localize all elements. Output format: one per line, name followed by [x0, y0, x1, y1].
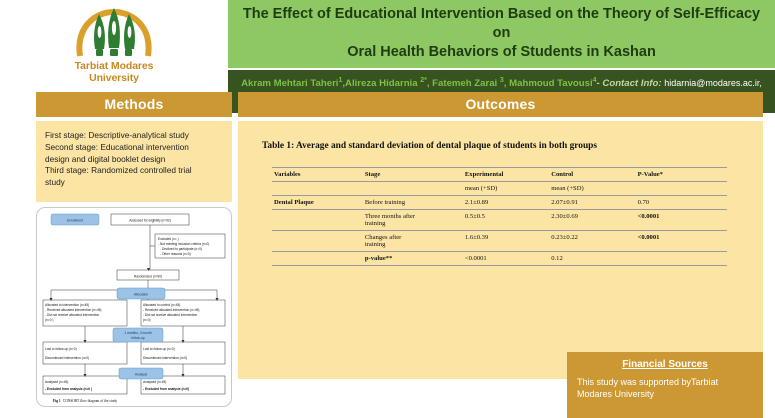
logo-line-1: Tarbiat Modares — [75, 60, 154, 72]
methods-line-1: First stage: Descriptive-analytical stud… — [45, 130, 223, 142]
table-subheader-row: mean (+SD) mean (+SD) — [272, 182, 727, 196]
box-analysed-right-2: - Excluded from analysis (n=0) — [143, 387, 189, 391]
row-1-stage-line-2: training — [365, 220, 386, 227]
methods-line-4: Third stage: Randomized controlled trial — [45, 165, 223, 177]
table-col-experimental: Experimental — [463, 168, 549, 182]
svg-text:Fig 1CONSORT flow diagram of t: Fig 1CONSORT flow diagram of the study — [53, 399, 117, 403]
row-2-stage-line-2: training — [365, 241, 386, 248]
row-2-stage: Changes after training — [363, 231, 463, 252]
box-excluded-title: Excluded (n= ) — [158, 237, 179, 241]
box-assessed-label: Assessed for eligibility (n=92) — [129, 219, 171, 223]
table-row: Dental Plaque Before training 2.1±0.89 2… — [272, 196, 727, 210]
logo-line-2: University — [75, 73, 154, 84]
box-alloc-left-2: - Received allocated intervention (n=45) — [45, 308, 101, 312]
poster-header: Tarbiat Modares University The Effect of… — [0, 0, 775, 88]
table-col-control: Control — [549, 168, 635, 182]
box-randomized-label: Randomized (n=90) — [134, 275, 162, 279]
box-alloc-right-1: Allocated to control (n=45) — [143, 303, 180, 307]
author-2-sup: 2* — [420, 77, 427, 84]
table-col-pvalue: P-Value* — [636, 168, 727, 182]
box-alloc-right-4: (n=0) — [143, 318, 151, 322]
row-1-control: 2.30±0.69 — [549, 210, 635, 231]
box-alloc-right-3: - Did not receive allocated intervention — [143, 313, 197, 317]
box-fu-left-2: Discontinued intervention (n=0) — [45, 356, 89, 360]
row-0-variable: Dental Plaque — [272, 196, 363, 210]
consort-flow-diagram: Enrollment Allocation 1 months, 3 month … — [36, 207, 232, 407]
financial-sources-box: Financial Sources This study was support… — [567, 352, 763, 418]
logo-emblem-icon — [66, 4, 162, 60]
row-0-control: 2.07±0.91 — [549, 196, 635, 210]
author-1: Akram Mehtari Taheri — [241, 79, 338, 90]
row-3-experimental: <0.0001 — [463, 252, 549, 266]
table-col-stage: Stage — [363, 168, 463, 182]
results-table: Variables Stage Experimental Control P-V… — [272, 167, 727, 266]
figure-caption-bold: Fig 1 — [53, 399, 61, 403]
table-sub-blank-1 — [272, 182, 363, 196]
table-row: p-value** <0.0001 0.12 — [272, 252, 727, 266]
table-sub-blank-2 — [363, 182, 463, 196]
row-1-stage-line-1: Three months after — [365, 213, 415, 220]
row-3-variable — [272, 252, 363, 266]
outcomes-panel: Table 1: Average and standard deviation … — [238, 121, 763, 379]
poster-root: Tarbiat Modares University The Effect of… — [0, 0, 775, 418]
poster-title: The Effect of Educational Intervention B… — [228, 0, 775, 68]
row-3-control: 0.12 — [549, 252, 635, 266]
box-alloc-left-1: Allocated to intervention (n=45) — [45, 303, 89, 307]
stage-followup-label-2: follow-up — [131, 336, 144, 340]
box-excluded-b2: - Declined to participate (n=0) — [160, 247, 202, 251]
row-0-experimental: 2.1±0.89 — [463, 196, 549, 210]
row-1-pvalue: <0.0001 — [636, 210, 727, 231]
methods-line-2: Second stage: Educational intervention — [45, 142, 223, 154]
financial-sources-line-2: Modares University — [577, 388, 753, 400]
box-alloc-left-3: - Did not receive allocated intervention — [45, 313, 99, 317]
stage-followup-label-1: 1 months, 3 month — [124, 331, 151, 335]
section-bar-methods: Methods — [36, 92, 232, 117]
box-alloc-right-2: - Received allocated intervention (n=45) — [143, 308, 199, 312]
university-logo-mark — [66, 4, 162, 60]
box-excluded-b1: - Not meeting inclusion criteria (n=0) — [158, 242, 209, 246]
financial-sources-body: This study was supported byTarbiat Modar… — [577, 376, 753, 400]
methods-line-3: design and digital booklet design — [45, 154, 223, 166]
table-row: Three months after training 0.5±0.5 2.30… — [272, 210, 727, 231]
section-bar-outcomes: Outcomes — [238, 92, 763, 117]
row-2-pvalue: <0.0001 — [636, 231, 727, 252]
row-0-pvalue: 0.70 — [636, 196, 727, 210]
table-sub-blank-3 — [636, 182, 727, 196]
stage-enrollment-label: Enrollment — [67, 219, 83, 223]
poster-title-line-1: The Effect of Educational Intervention B… — [238, 5, 765, 43]
row-3-pvalue — [636, 252, 727, 266]
box-fu-left-1: Lost to follow-up (n=0) — [45, 347, 77, 351]
stage-allocation-label: Allocation — [134, 293, 148, 297]
author-3: , Fatemeh Zarai — [427, 79, 500, 90]
row-2-stage-line-1: Changes after — [365, 234, 401, 241]
contact-info-label: - Contact Info: — [597, 79, 662, 90]
consort-diagram-svg: Enrollment Allocation 1 months, 3 month … — [37, 208, 231, 406]
poster-title-line-2: Oral Health Behaviors of Students in Kas… — [238, 43, 765, 62]
row-0-stage: Before training — [363, 196, 463, 210]
row-1-stage: Three months after training — [363, 210, 463, 231]
methods-line-5: study — [45, 177, 223, 189]
box-analysed-right-1: Analysed (n=45) — [143, 380, 166, 384]
box-alloc-left-4: (n=0 ) — [45, 318, 53, 322]
methods-column: First stage: Descriptive-analytical stud… — [36, 121, 232, 407]
table-title: Table 1: Average and standard deviation … — [262, 141, 753, 151]
stage-analysis-label: Analysis — [135, 373, 148, 377]
table-header-row: Variables Stage Experimental Control P-V… — [272, 168, 727, 182]
table-sub-control: mean (+SD) — [549, 182, 635, 196]
box-analysed-left-1: Analysed (n=45) — [45, 380, 68, 384]
university-logo: Tarbiat Modares University — [0, 0, 228, 88]
author-4: , Mahmoud Tavousi — [504, 79, 593, 90]
university-logo-text: Tarbiat Modares University — [75, 61, 154, 83]
box-fu-right-2: Discontinued intervention (n=0) — [143, 356, 187, 360]
row-1-variable — [272, 210, 363, 231]
box-analysed-left-2: - Excluded from analysis (n=0 ) — [45, 387, 92, 391]
row-2-variable — [272, 231, 363, 252]
box-excluded-b3: - Other reasons (n=0) — [160, 252, 191, 256]
author-2: ,Alireza Hidarnia — [342, 79, 420, 90]
table-sub-experimental: mean (+SD) — [463, 182, 549, 196]
section-header-bars: Methods Outcomes — [0, 92, 775, 117]
financial-sources-title: Financial Sources — [577, 359, 753, 370]
financial-sources-line-1: This study was supported byTarbiat — [577, 376, 753, 388]
row-1-experimental: 0.5±0.5 — [463, 210, 549, 231]
figure-caption-rest: CONSORT flow diagram of the study — [63, 399, 118, 403]
table-row: Changes after training 1.6±0.39 0.23±0.2… — [272, 231, 727, 252]
row-2-experimental: 1.6±0.39 — [463, 231, 549, 252]
methods-panel: First stage: Descriptive-analytical stud… — [36, 121, 232, 202]
row-3-stage: p-value** — [363, 252, 463, 266]
table-col-variables: Variables — [272, 168, 363, 182]
box-fu-right-1: Lost to follow-up (n=0) — [143, 347, 175, 351]
row-2-control: 0.23±0.22 — [549, 231, 635, 252]
